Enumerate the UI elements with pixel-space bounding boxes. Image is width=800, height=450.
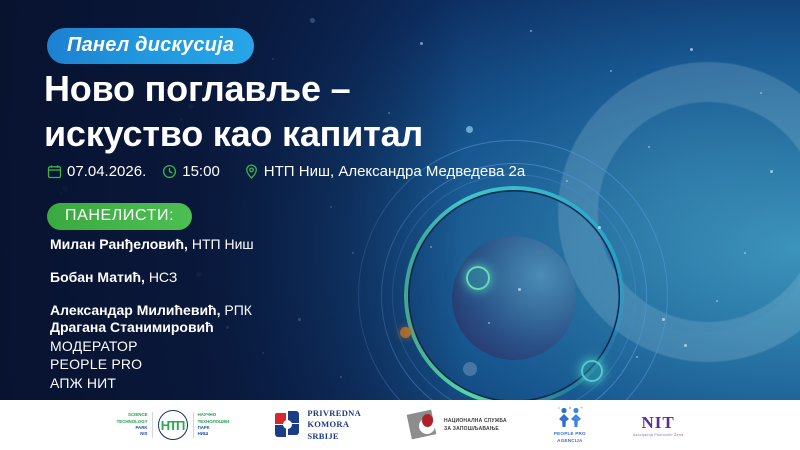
pks-line1: PRIVREDNA xyxy=(307,408,361,419)
nsz-logo-text: НАЦИОНАЛНА СЛУЖБА ЗА ЗАПОШЉАВАЊЕ xyxy=(444,417,507,433)
nsz-mark-icon xyxy=(407,410,437,440)
ntp-nis-logo: SCIENCE TECHNOLOGY PARK NIS НТП НАУЧНО Т… xyxy=(117,405,230,445)
nsz-logo: НАЦИОНАЛНА СЛУЖБА ЗА ЗАПОШЉАВАЊЕ xyxy=(407,405,507,445)
pks-logo-text: PRIVREDNA KOMORA SRBIJE xyxy=(307,408,361,441)
poster-content: Панел дискусија Ново поглавље – искуство… xyxy=(0,0,800,450)
panelists-label-badge: ПАНЕЛИСТИ: xyxy=(47,203,192,230)
ntp-en-line4: NIS xyxy=(117,431,148,437)
pks-logo: PRIVREDNA KOMORA SRBIJE xyxy=(275,405,361,445)
event-time-text: 15:00 xyxy=(182,163,220,180)
panelist-org: РПК xyxy=(224,302,252,318)
title-line-1: Ново поглавље – xyxy=(44,68,350,109)
list-item: Александар Милићевић, РПК xyxy=(50,302,254,318)
people-pro-logo-text: PEOPLE PRO AGENCIJA xyxy=(553,431,587,445)
ntp-mark-text: НТП xyxy=(161,418,185,433)
ntp-sr-line4: НИШ xyxy=(198,431,230,437)
ntp-logo-text-en: SCIENCE TECHNOLOGY PARK NIS xyxy=(117,412,153,438)
event-location: НТП Ниш, Александра Медведева 2а xyxy=(244,163,525,180)
people-figures-icon xyxy=(553,406,587,430)
page-title: Ново поглавље – искуство као капитал xyxy=(44,66,524,156)
event-date: 07.04.2026. xyxy=(47,163,146,180)
moderator-block: Драгана Станимировић МОДЕРАТОР PEOPLE PR… xyxy=(50,318,214,392)
nit-subtitle: Asocijacija Poslovnih Žena xyxy=(633,433,684,437)
list-item: Бобан Матић, НСЗ xyxy=(50,269,254,285)
moderator-name: Драгана Станимировић xyxy=(50,318,214,337)
nit-monogram-icon: NIT xyxy=(633,414,684,431)
map-pin-icon xyxy=(244,164,259,179)
pks-line3: SRBIJE xyxy=(307,431,361,442)
clock-icon xyxy=(162,164,177,179)
event-meta: 07.04.2026. 15:00 НТП xyxy=(47,163,525,180)
panelist-name: Бобан Матић, xyxy=(50,269,145,285)
ntp-logo-text-sr: НАУЧНО ТЕХНОЛОШКИ ПАРК НИШ xyxy=(193,412,230,438)
moderator-affiliation: АПЖ НИТ xyxy=(50,374,214,393)
moderator-role: МОДЕРАТОР xyxy=(50,337,214,356)
nsz-line1: НАЦИОНАЛНА СЛУЖБА xyxy=(444,417,507,425)
moderator-company: PEOPLE PRO xyxy=(50,355,214,374)
panelist-name: Александар Милићевић, xyxy=(50,302,221,318)
panel-type-badge: Панел дискусија xyxy=(47,28,254,64)
panelist-org: НСЗ xyxy=(149,269,178,285)
event-time: 15:00 xyxy=(162,163,220,180)
pp-line1: PEOPLE PRO xyxy=(553,431,587,438)
title-line-2: искуство као капитал xyxy=(44,111,524,156)
list-item: Милан Ранђеловић, НТП Ниш xyxy=(50,236,254,252)
ntp-circle-mark: НТП xyxy=(158,410,188,440)
calendar-icon xyxy=(47,164,62,179)
sponsor-footer: SCIENCE TECHNOLOGY PARK NIS НТП НАУЧНО Т… xyxy=(0,400,800,450)
nsz-line2: ЗА ЗАПОШЉАВАЊЕ xyxy=(444,425,507,433)
panelist-org: НТП Ниш xyxy=(192,236,254,252)
nit-mark-text: NIT xyxy=(642,413,675,432)
pp-line2: AGENCIJA xyxy=(553,438,587,445)
event-location-text: НТП Ниш, Александра Медведева 2а xyxy=(264,163,525,180)
panelist-name: Милан Ранђеловић, xyxy=(50,236,188,252)
event-poster: Панел дискусија Ново поглавље – искуство… xyxy=(0,0,800,450)
people-pro-logo: PEOPLE PRO AGENCIJA xyxy=(553,405,587,445)
event-date-text: 07.04.2026. xyxy=(67,163,146,180)
pks-pinwheel-icon xyxy=(275,411,301,439)
nit-logo: NIT Asocijacija Poslovnih Žena xyxy=(633,405,684,445)
pks-line2: KOMORA xyxy=(307,419,361,430)
